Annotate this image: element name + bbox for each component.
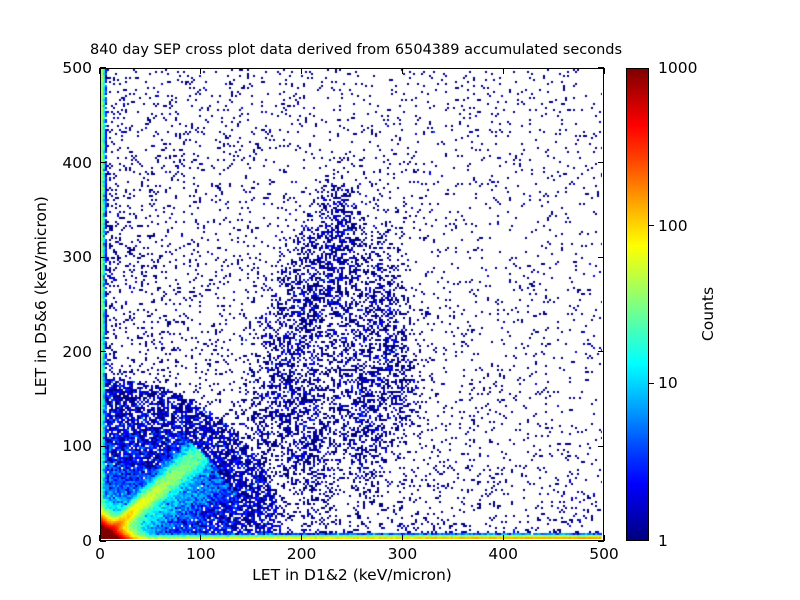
colorbar-title: Counts <box>699 244 717 384</box>
colorbar-tick-label: 10 <box>658 374 678 392</box>
y-tick-mark-right <box>598 351 604 352</box>
y-tick-label: 500 <box>34 59 92 77</box>
colorbar-tick-label: 1 <box>658 532 668 550</box>
density-scatter-plot <box>101 69 602 539</box>
x-tick-label: 100 <box>186 545 216 563</box>
y-tick-mark <box>100 446 106 447</box>
x-tick-mark-top <box>200 68 201 74</box>
figure-canvas: 840 day SEP cross plot data derived from… <box>0 0 800 600</box>
x-tick-mark-top <box>603 68 604 74</box>
y-axis-label: LET in D5&6 (keV/micron) <box>32 136 50 456</box>
x-tick-label: 500 <box>589 545 619 563</box>
x-axis-label: LET in D1&2 (keV/micron) <box>100 566 604 584</box>
x-tick-mark-top <box>503 68 504 74</box>
plot-axes-frame <box>100 68 604 541</box>
plot-title-line-1: 840 day SEP cross plot data derived from… <box>0 42 712 59</box>
colorbar-gradient <box>626 68 649 541</box>
colorbar-tick-label: 100 <box>658 217 688 235</box>
x-tick-mark <box>503 535 504 541</box>
colorbar-container: 1101001000 <box>626 68 649 541</box>
x-tick-label: 400 <box>488 545 518 563</box>
colorbar-tick-label: 1000 <box>658 59 697 77</box>
y-tick-mark <box>100 351 106 352</box>
x-tick-label: 200 <box>287 545 317 563</box>
x-tick-label: 300 <box>388 545 418 563</box>
colorbar-tick-mark <box>649 225 654 226</box>
y-tick-mark <box>100 67 106 68</box>
colorbar-tick-mark <box>649 383 654 384</box>
x-tick-mark-top <box>402 68 403 74</box>
x-tick-mark-top <box>99 68 100 74</box>
x-tick-label: 0 <box>95 545 105 563</box>
y-tick-label: 0 <box>34 532 92 550</box>
y-tick-mark <box>100 257 106 258</box>
y-tick-mark-right <box>598 446 604 447</box>
y-tick-mark-right <box>598 162 604 163</box>
y-tick-mark <box>100 162 106 163</box>
y-tick-mark <box>100 540 106 541</box>
x-tick-mark <box>200 535 201 541</box>
y-tick-mark-right <box>598 67 604 68</box>
y-tick-mark-right <box>598 540 604 541</box>
x-tick-mark <box>402 535 403 541</box>
x-tick-mark-top <box>301 68 302 74</box>
x-tick-mark <box>301 535 302 541</box>
y-tick-mark-right <box>598 257 604 258</box>
